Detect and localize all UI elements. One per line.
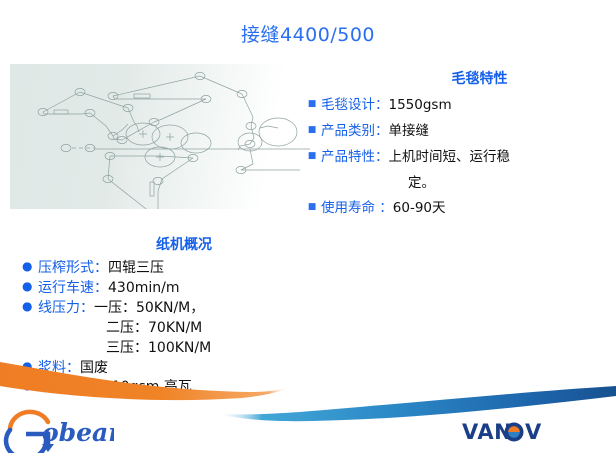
paper-machine-diagram bbox=[10, 64, 330, 209]
list-item: ● 线压力： 一压：50KN/M， bbox=[22, 300, 302, 318]
gobear-logo: obear bbox=[2, 408, 114, 453]
round-bullet-icon: ● bbox=[22, 379, 38, 391]
item-label: 运行车速： bbox=[38, 280, 108, 298]
item-label: 使用寿命 ： bbox=[321, 200, 393, 217]
item-label: 压榨形式： bbox=[38, 260, 108, 278]
item-value: 单接缝 bbox=[389, 123, 430, 140]
vanov-logo: VAN V bbox=[462, 418, 582, 448]
item-value: 1550gsm bbox=[389, 97, 452, 114]
vanov-o-mark bbox=[505, 423, 524, 442]
item-value: 四辊三压 bbox=[108, 260, 164, 278]
item-label: 浆料： bbox=[38, 360, 80, 378]
felt-properties-heading: 毛毯特性 bbox=[303, 68, 616, 88]
felt-properties-block: 毛毯特性 ■ 毛毯设计： 1550gsm ■ 产品类别： 单接缝 ■ 产品特性：… bbox=[303, 68, 616, 226]
item-value-continuation: 定。 bbox=[303, 171, 616, 191]
square-bullet-icon: ■ bbox=[303, 203, 321, 212]
vanov-wordmark-right: V bbox=[525, 420, 542, 444]
item-value: 70-110gsm 高瓦 bbox=[80, 379, 192, 397]
item-label: 产品特性： bbox=[321, 149, 389, 166]
round-bullet-icon: ● bbox=[22, 260, 38, 272]
round-bullet-icon: ● bbox=[22, 280, 38, 292]
item-label: 线压力： bbox=[38, 300, 94, 318]
list-item: ■ 产品类别： 单接缝 bbox=[303, 123, 616, 140]
gobear-wordmark: obear bbox=[42, 418, 114, 447]
diagram-linework bbox=[10, 64, 330, 209]
page-title: 接缝4400/500 bbox=[0, 20, 616, 47]
item-label: 毛毯设计： bbox=[321, 97, 389, 114]
item-label: 纸种： bbox=[38, 379, 80, 397]
square-bullet-icon: ■ bbox=[303, 152, 321, 161]
item-value: 430min/m bbox=[108, 280, 179, 298]
item-subline: 二压：70KN/M bbox=[22, 320, 302, 338]
list-item: ■ 使用寿命 ： 60-90天 bbox=[303, 200, 616, 217]
item-value: 上机时间短、运行稳 bbox=[389, 149, 511, 166]
list-item: ● 浆料： 国废 bbox=[22, 360, 302, 378]
item-value: 60-90天 bbox=[393, 200, 446, 217]
item-value: 一压：50KN/M， bbox=[94, 300, 204, 318]
list-item: ■ 产品特性： 上机时间短、运行稳 bbox=[303, 149, 616, 166]
round-bullet-icon: ● bbox=[22, 300, 38, 312]
square-bullet-icon: ■ bbox=[303, 100, 321, 109]
machine-overview-block: 纸机概况 ● 压榨形式： 四辊三压 ● 运行车速： 430min/m ● 线压力… bbox=[22, 234, 302, 399]
square-bullet-icon: ■ bbox=[303, 126, 321, 135]
item-subline: 三压：100KN/M bbox=[22, 340, 302, 358]
list-item: ● 纸种： 70-110gsm 高瓦 bbox=[22, 379, 302, 397]
round-bullet-icon: ● bbox=[22, 360, 38, 372]
item-label: 产品类别： bbox=[321, 123, 389, 140]
list-item: ■ 毛毯设计： 1550gsm bbox=[303, 97, 616, 114]
list-item: ● 压榨形式： 四辊三压 bbox=[22, 260, 302, 278]
list-item: ● 运行车速： 430min/m bbox=[22, 280, 302, 298]
slide-canvas: 接缝4400/500 bbox=[0, 0, 616, 455]
machine-overview-heading: 纸机概况 bbox=[22, 234, 302, 254]
item-value: 国废 bbox=[80, 360, 108, 378]
